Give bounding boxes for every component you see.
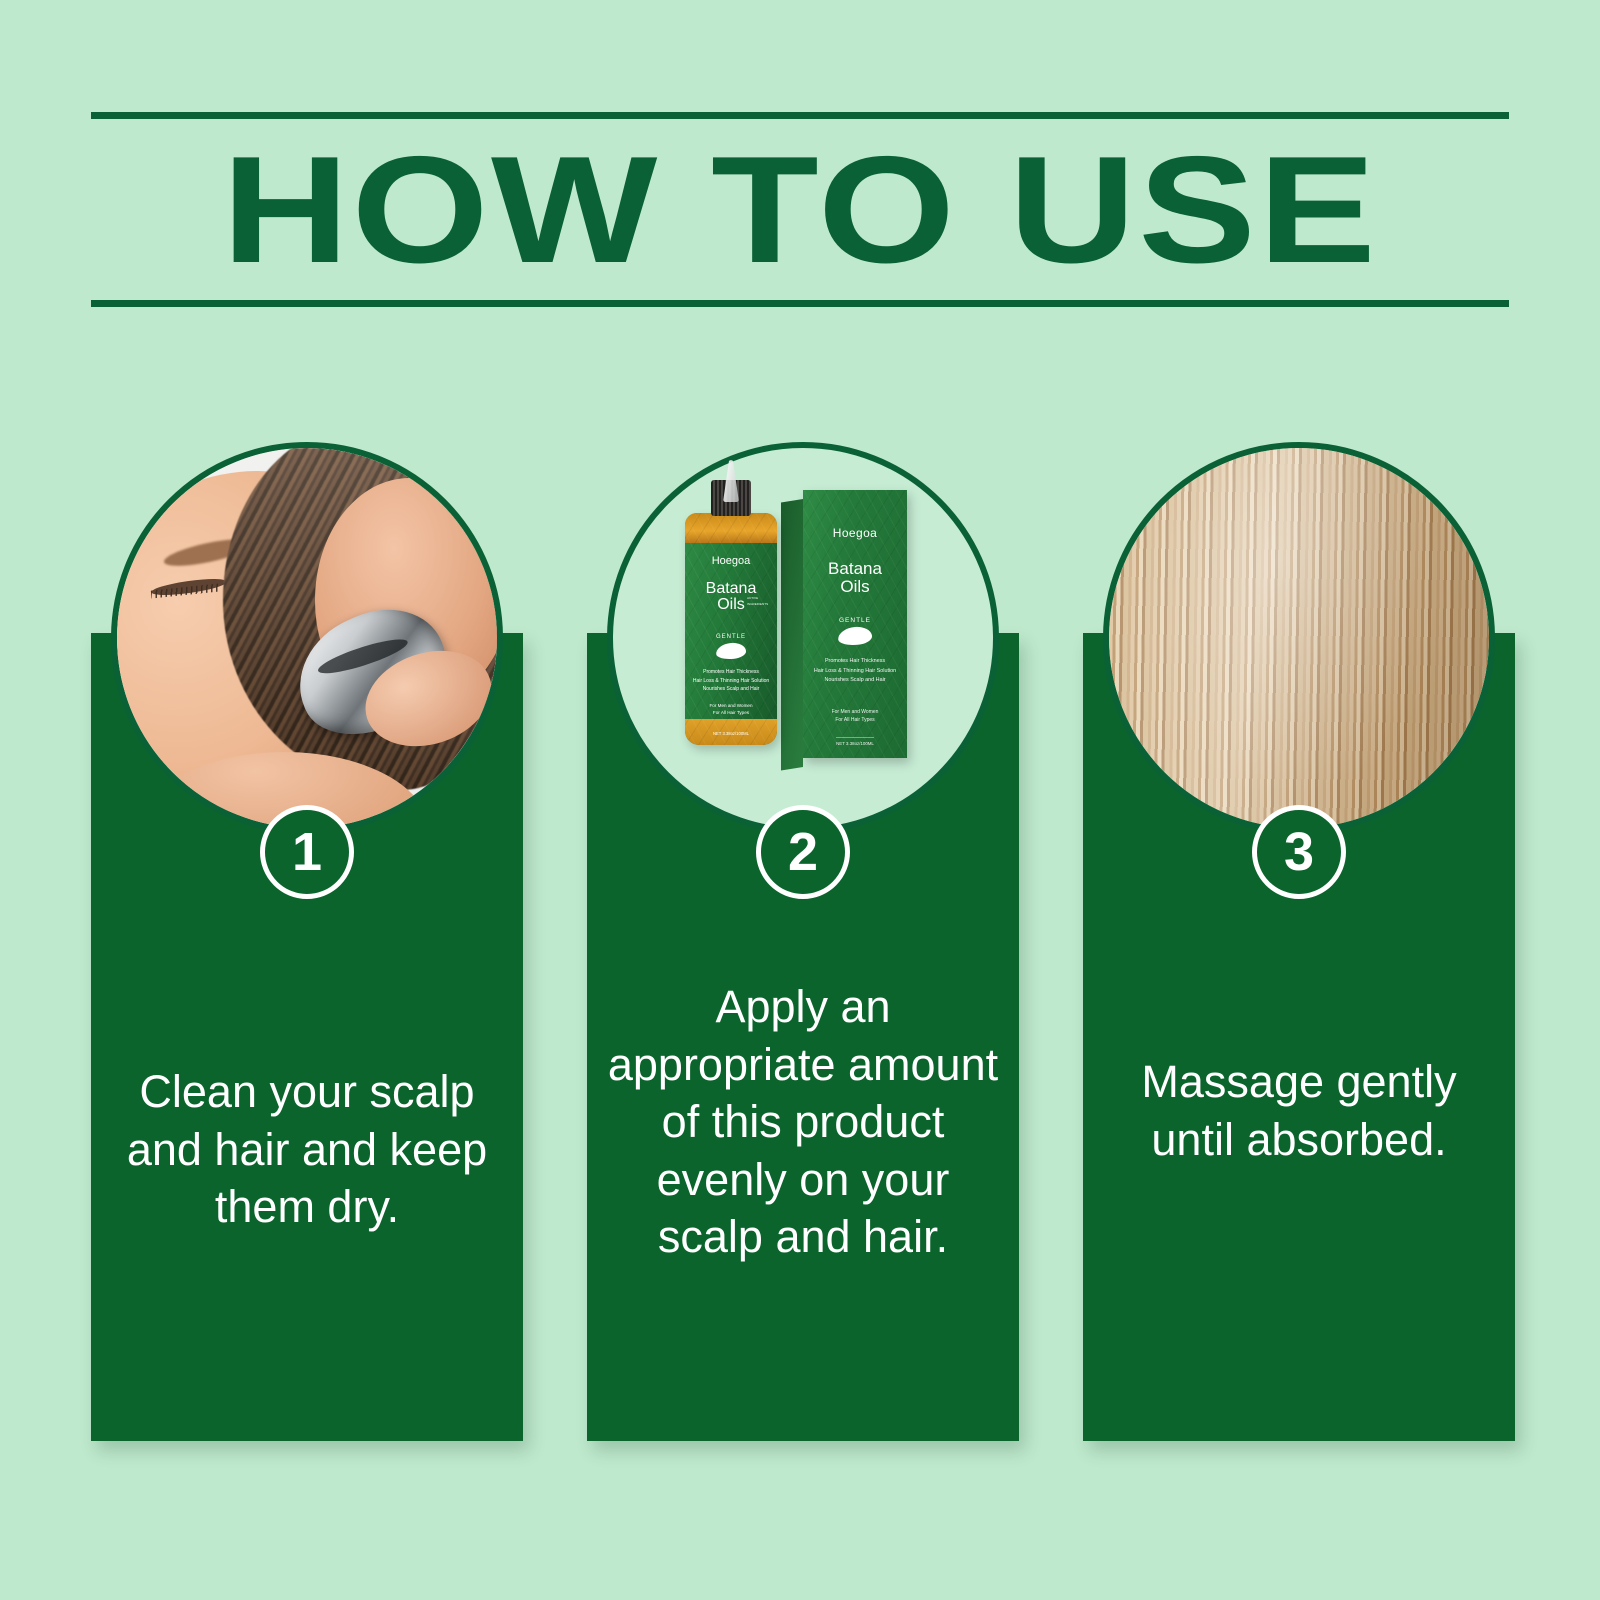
- product-box-text: Hoegoa Batana Oils GENTLE Promotes Hair …: [803, 490, 907, 758]
- bottle-leaf-icon: [715, 642, 746, 661]
- box-net-content: NET 3.38oz/100ML: [836, 737, 874, 746]
- bottle-brand-name: Hoegoa: [712, 555, 751, 567]
- bottle-claims: Promotes Hair Thickness Hair Loss & Thin…: [693, 668, 769, 694]
- step-caption-1: Clean your scalp and hair and keep them …: [109, 1063, 505, 1236]
- product-box: Hoegoa Batana Oils GENTLE Promotes Hair …: [803, 490, 907, 758]
- product-image: Hoegoa Batana Oils GENTLE Promotes Hair …: [613, 448, 993, 828]
- step-number-badge-3: 3: [1252, 805, 1346, 899]
- bottle-variant-label: GENTLE: [716, 634, 746, 640]
- bottle-label-text: Hoegoa Batana Oils GENTLE Promotes Hair …: [685, 513, 777, 745]
- step-caption-2: Apply an appropriate amount of this prod…: [605, 978, 1001, 1266]
- product-bottle: Hoegoa Batana Oils GENTLE Promotes Hair …: [685, 513, 777, 745]
- box-audience: For Men and Women For All Hair Types: [832, 708, 879, 725]
- leaf-icon: [837, 626, 872, 647]
- step-card-3: 3 Massage gently until absorbed.: [1083, 633, 1515, 1441]
- step-2-product-circle: Hoegoa Batana Oils GENTLE Promotes Hair …: [607, 442, 999, 834]
- box-brand-name: Hoegoa: [833, 526, 877, 540]
- box-product-name-line1: Batana: [828, 560, 882, 578]
- bottle-product-name-line1: Batana: [706, 581, 757, 598]
- step-1-photo-clip: [117, 448, 497, 828]
- product-box-side-panel: [781, 499, 803, 770]
- step-number-badge-1: 1: [260, 805, 354, 899]
- box-variant-label: GENTLE: [839, 617, 871, 624]
- bottle-ingredients-text: ACTIVE INGREDIENTS: [747, 596, 773, 607]
- steps-row: 1 Clean your scalp and hair and keep the…: [0, 0, 1600, 1600]
- box-product-name-line2: Oils: [828, 578, 882, 596]
- step-number-badge-2: 2: [756, 805, 850, 899]
- bottle-net-content: NET 3.38oz/100ML: [713, 731, 749, 736]
- step-3-photo: [1103, 442, 1495, 834]
- step-1-photo: [111, 442, 503, 834]
- step-card-1: 1 Clean your scalp and hair and keep the…: [91, 633, 523, 1441]
- bottle-audience: For Men and Women For All Hair Types: [709, 702, 752, 718]
- step-caption-3: Massage gently until absorbed.: [1101, 1053, 1497, 1168]
- scalp-massage-image: [117, 448, 497, 828]
- box-claims: Promotes Hair Thickness Hair Loss & Thin…: [814, 657, 896, 685]
- step-card-2: Hoegoa Batana Oils GENTLE Promotes Hair …: [587, 633, 1019, 1441]
- blonde-hair-image: [1109, 448, 1489, 828]
- step-3-photo-clip: [1109, 448, 1489, 828]
- box-product-name: Batana Oils: [828, 560, 882, 596]
